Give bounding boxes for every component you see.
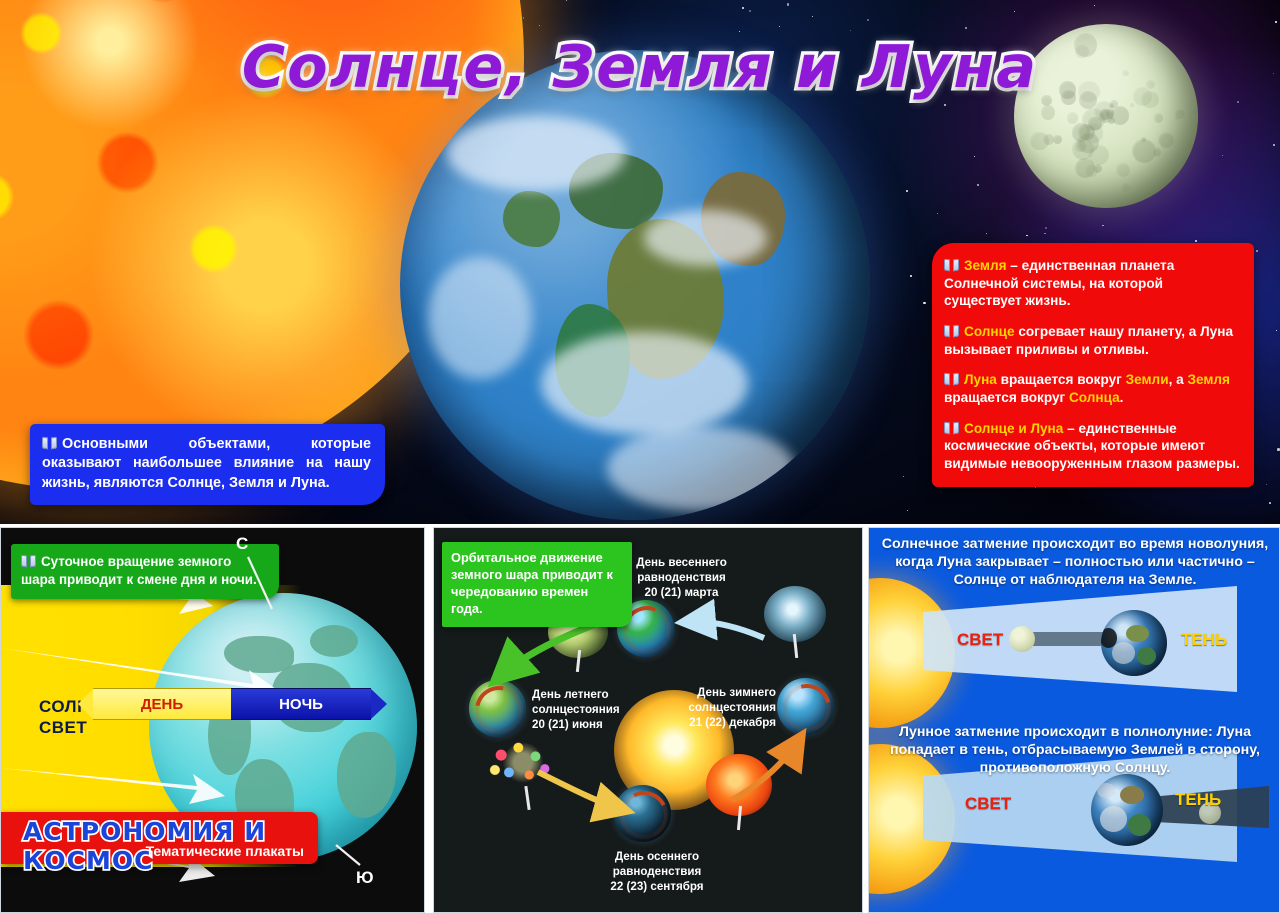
hero-red-fact: Солнце и Луна – единственные космические… xyxy=(944,420,1240,473)
star xyxy=(1094,5,1095,6)
panel-eclipses: Солнечное затмение происходит во время н… xyxy=(868,527,1280,913)
hero-red-fact: Земля – единственная планета Солнечной с… xyxy=(944,257,1240,310)
star xyxy=(1275,21,1276,22)
star xyxy=(907,510,908,511)
moon-crater xyxy=(1130,103,1134,107)
moon-crater xyxy=(1158,132,1174,148)
label-autumn-equinox-name: День осеннего равноденствия xyxy=(597,850,717,880)
bottom-panels: Суточное вращение земного шара приводит … xyxy=(0,527,1280,913)
moon-crater xyxy=(1154,113,1164,123)
star xyxy=(787,3,789,5)
lunar-eclipse-text: Лунное затмение происходит в полнолуние:… xyxy=(877,724,1273,778)
label-winter-solstice-name: День зимнего солнцестояния xyxy=(666,686,776,716)
moon-crater xyxy=(1043,134,1055,146)
solar-eclipse-text: Солнечное затмение происходит во время н… xyxy=(877,536,1273,590)
moon-crater xyxy=(1116,163,1130,177)
poster-root: Солнце, Земля и Луна Основными объектами… xyxy=(0,0,1280,913)
star xyxy=(749,10,750,11)
star xyxy=(1273,144,1275,146)
series-banner-subtitle: Тематические плакаты xyxy=(146,843,304,859)
star xyxy=(539,25,540,26)
highlighted-term: Земли xyxy=(1126,372,1169,387)
fact-text: вызывает приливы и отливы. xyxy=(944,342,1149,357)
moon-crater xyxy=(1094,101,1114,121)
star xyxy=(974,156,976,158)
star xyxy=(742,7,744,9)
lunar-eclipse-earth xyxy=(1091,774,1163,846)
highlighted-term: Луна xyxy=(964,372,997,387)
label-summer-solstice: День летнего солнцестояния 20 (21) июня xyxy=(532,688,642,732)
sunlight-label-line: СВЕТ xyxy=(39,717,157,738)
moon-crater xyxy=(1120,182,1130,192)
star xyxy=(923,302,925,304)
star xyxy=(903,476,904,477)
solar-light-label: СВЕТ xyxy=(957,630,1003,650)
star xyxy=(1269,502,1271,504)
star xyxy=(906,190,908,192)
night-arrow-label: НОЧЬ xyxy=(231,688,371,720)
highlighted-term: Солнца xyxy=(1069,390,1120,405)
highlighted-term: Земля xyxy=(1187,372,1230,387)
star xyxy=(1222,155,1223,156)
star xyxy=(812,16,813,17)
star xyxy=(910,275,912,277)
hero-red-fact: Луна вращается вокруг Земли, а Земля вра… xyxy=(944,371,1240,406)
hero-red-facts: Земля – единственная планета Солнечной с… xyxy=(932,243,1254,487)
open-book-icon xyxy=(944,259,959,271)
fact-text: Луна xyxy=(1200,324,1233,339)
pole-north-label: С xyxy=(236,534,248,554)
lunar-shadow-label: ТЕНЬ xyxy=(1175,790,1221,810)
star xyxy=(523,17,525,19)
star xyxy=(779,26,780,27)
star xyxy=(1256,250,1258,252)
hero-blue-note: Основными объектами, которые оказывают н… xyxy=(30,424,385,505)
moon-crater xyxy=(1041,105,1055,119)
page-title: Солнце, Земля и Луна xyxy=(0,32,1280,101)
seasons-note-text: Орбитальное движение земного шара привод… xyxy=(451,550,623,618)
hero-red-fact: Солнце согревает нашу планету, а Луна вы… xyxy=(944,323,1240,358)
solar-eclipse-earth xyxy=(1101,610,1167,676)
label-winter-solstice: День зимнего солнцестояния 21 (22) декаб… xyxy=(666,686,776,730)
day-night-note-text: Суточное вращение земного шара приводит … xyxy=(21,554,257,587)
star xyxy=(986,233,987,234)
star xyxy=(1266,484,1267,485)
fact-text: , а xyxy=(1169,372,1188,387)
moon-crater xyxy=(1141,137,1146,142)
label-winter-solstice-date: 21 (22) декабря xyxy=(666,716,776,731)
star xyxy=(1276,330,1277,331)
star xyxy=(1237,101,1240,104)
star xyxy=(1102,225,1103,226)
solar-eclipse-moon xyxy=(1009,626,1035,652)
moon-crater xyxy=(1174,108,1185,119)
label-spring-equinox-date: 20 (21) марта xyxy=(624,586,739,601)
label-summer-solstice-date: 20 (21) июня xyxy=(532,718,642,733)
label-autumn-equinox-date: 22 (23) сентября xyxy=(597,880,717,895)
day-arrow-label: ДЕНЬ xyxy=(93,688,231,720)
fact-text: вращается вокруг xyxy=(944,390,1069,405)
lunar-light-label: СВЕТ xyxy=(965,794,1011,814)
star xyxy=(850,30,851,31)
star xyxy=(1277,448,1280,451)
open-book-icon xyxy=(944,373,959,385)
open-book-icon xyxy=(21,555,36,567)
seasons-note: Орбитальное движение земного шара привод… xyxy=(442,542,632,627)
label-autumn-equinox: День осеннего равноденствия 22 (23) сент… xyxy=(597,850,717,894)
star xyxy=(937,213,938,214)
label-spring-equinox: День весеннего равноденствия 20 (21) мар… xyxy=(624,556,739,600)
label-summer-solstice-name: День летнего солнцестояния xyxy=(532,688,642,718)
open-book-icon xyxy=(42,437,57,449)
label-spring-equinox-name: День весеннего равноденствия xyxy=(624,556,739,586)
star xyxy=(566,0,567,1)
star xyxy=(965,27,967,29)
star xyxy=(1014,11,1015,12)
day-night-bar: ДЕНЬ НОЧЬ xyxy=(93,688,383,718)
earth-image xyxy=(400,50,870,520)
star xyxy=(977,184,979,186)
highlighted-term: Солнце xyxy=(964,324,1015,339)
star xyxy=(867,19,869,21)
fact-text: . xyxy=(1120,390,1124,405)
star xyxy=(944,104,945,105)
hero-space-scene: Солнце, Земля и Луна Основными объектами… xyxy=(0,0,1280,524)
moon-crater xyxy=(1053,135,1062,144)
moon-crater xyxy=(1067,112,1079,124)
highlighted-term: Земля xyxy=(964,258,1007,273)
moon-crater xyxy=(1152,147,1162,157)
panel-day-night: Суточное вращение земного шара приводит … xyxy=(0,527,425,913)
star xyxy=(1026,235,1027,236)
star xyxy=(1195,240,1196,241)
star xyxy=(1045,227,1047,229)
star xyxy=(1044,233,1046,235)
star xyxy=(1035,487,1036,488)
fact-text: согревает нашу планету, а xyxy=(1015,324,1201,339)
series-banner: АСТРОНОМИЯ И КОСМОС Тематические плакаты xyxy=(1,812,318,864)
pole-south-label: Ю xyxy=(356,868,374,888)
panel-seasons: Орбитальное движение земного шара привод… xyxy=(433,527,863,913)
open-book-icon xyxy=(944,422,959,434)
open-book-icon xyxy=(944,325,959,337)
hero-blue-note-text: Основными объектами, которые оказывают н… xyxy=(42,436,371,491)
fact-text: вращается вокруг xyxy=(997,372,1126,387)
moon-crater xyxy=(1088,145,1108,165)
solar-shadow-label: ТЕНЬ xyxy=(1181,630,1227,650)
highlighted-term: Солнце и Луна xyxy=(964,421,1063,436)
